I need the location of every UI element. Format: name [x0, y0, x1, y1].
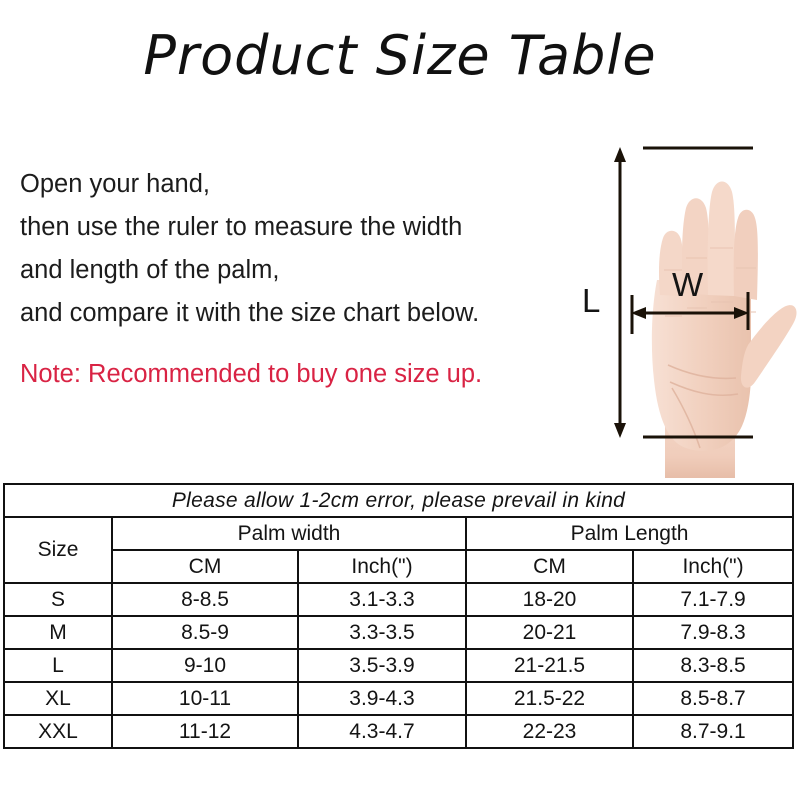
cell-width-cm: 9-10	[112, 649, 298, 682]
cell-width-inch: 3.3-3.5	[298, 616, 466, 649]
cell-width-cm: 8-8.5	[112, 583, 298, 616]
cell-length-inch: 7.1-7.9	[633, 583, 793, 616]
cell-width-cm: 11-12	[112, 715, 298, 748]
cell-length-cm: 20-21	[466, 616, 633, 649]
length-arrow-head-top	[614, 147, 626, 162]
cell-length-cm: 18-20	[466, 583, 633, 616]
table-row: L 9-10 3.5-3.9 21-21.5 8.3-8.5	[4, 649, 793, 682]
cell-length-cm: 21.5-22	[466, 682, 633, 715]
header-palm-width: Palm width	[112, 517, 466, 550]
header-length-cm: CM	[466, 550, 633, 583]
header-width-cm: CM	[112, 550, 298, 583]
hand-measurement-figure: L W	[560, 130, 800, 480]
hand-photo-group	[652, 182, 797, 481]
cell-length-inch: 8.5-8.7	[633, 682, 793, 715]
cell-width-cm: 8.5-9	[112, 616, 298, 649]
table-group-header-row: Size Palm width Palm Length	[4, 517, 793, 550]
table-note-row: Please allow 1-2cm error, please prevail…	[4, 484, 793, 517]
cell-length-inch: 8.3-8.5	[633, 649, 793, 682]
table-row: S 8-8.5 3.1-3.3 18-20 7.1-7.9	[4, 583, 793, 616]
table-sub-header-row: CM Inch(") CM Inch(")	[4, 550, 793, 583]
header-palm-length: Palm Length	[466, 517, 793, 550]
cell-width-cm: 10-11	[112, 682, 298, 715]
cell-size: M	[4, 616, 112, 649]
width-label: W	[672, 266, 704, 303]
instruction-line-4: and compare it with the size chart below…	[20, 292, 590, 335]
cell-length-inch: 8.7-9.1	[633, 715, 793, 748]
cell-width-inch: 4.3-4.7	[298, 715, 466, 748]
cell-size: L	[4, 649, 112, 682]
cell-length-cm: 21-21.5	[466, 649, 633, 682]
header-size: Size	[4, 517, 112, 583]
instruction-line-1: Open your hand,	[20, 163, 590, 206]
page-title: Product Size Table	[0, 24, 800, 87]
cell-size: XL	[4, 682, 112, 715]
table-row: XL 10-11 3.9-4.3 21.5-22 8.5-8.7	[4, 682, 793, 715]
cell-width-inch: 3.9-4.3	[298, 682, 466, 715]
cell-size: XXL	[4, 715, 112, 748]
header-width-inch: Inch(")	[298, 550, 466, 583]
length-arrow-head-bottom	[614, 423, 626, 438]
table-row: M 8.5-9 3.3-3.5 20-21 7.9-8.3	[4, 616, 793, 649]
size-table: Please allow 1-2cm error, please prevail…	[3, 483, 794, 749]
table-row: XXL 11-12 4.3-4.7 22-23 8.7-9.1	[4, 715, 793, 748]
header-length-inch: Inch(")	[633, 550, 793, 583]
length-label: L	[582, 282, 600, 319]
cell-width-inch: 3.1-3.3	[298, 583, 466, 616]
note-text: Note: Recommended to buy one size up.	[20, 357, 482, 391]
cell-length-cm: 22-23	[466, 715, 633, 748]
cell-size: S	[4, 583, 112, 616]
instruction-line-2: then use the ruler to measure the width	[20, 206, 590, 249]
cell-length-inch: 7.9-8.3	[633, 616, 793, 649]
tolerance-note-cell: Please allow 1-2cm error, please prevail…	[4, 484, 793, 517]
cell-width-inch: 3.5-3.9	[298, 649, 466, 682]
instruction-line-3: and length of the palm,	[20, 249, 590, 292]
instruction-block: Open your hand, then use the ruler to me…	[20, 163, 590, 335]
